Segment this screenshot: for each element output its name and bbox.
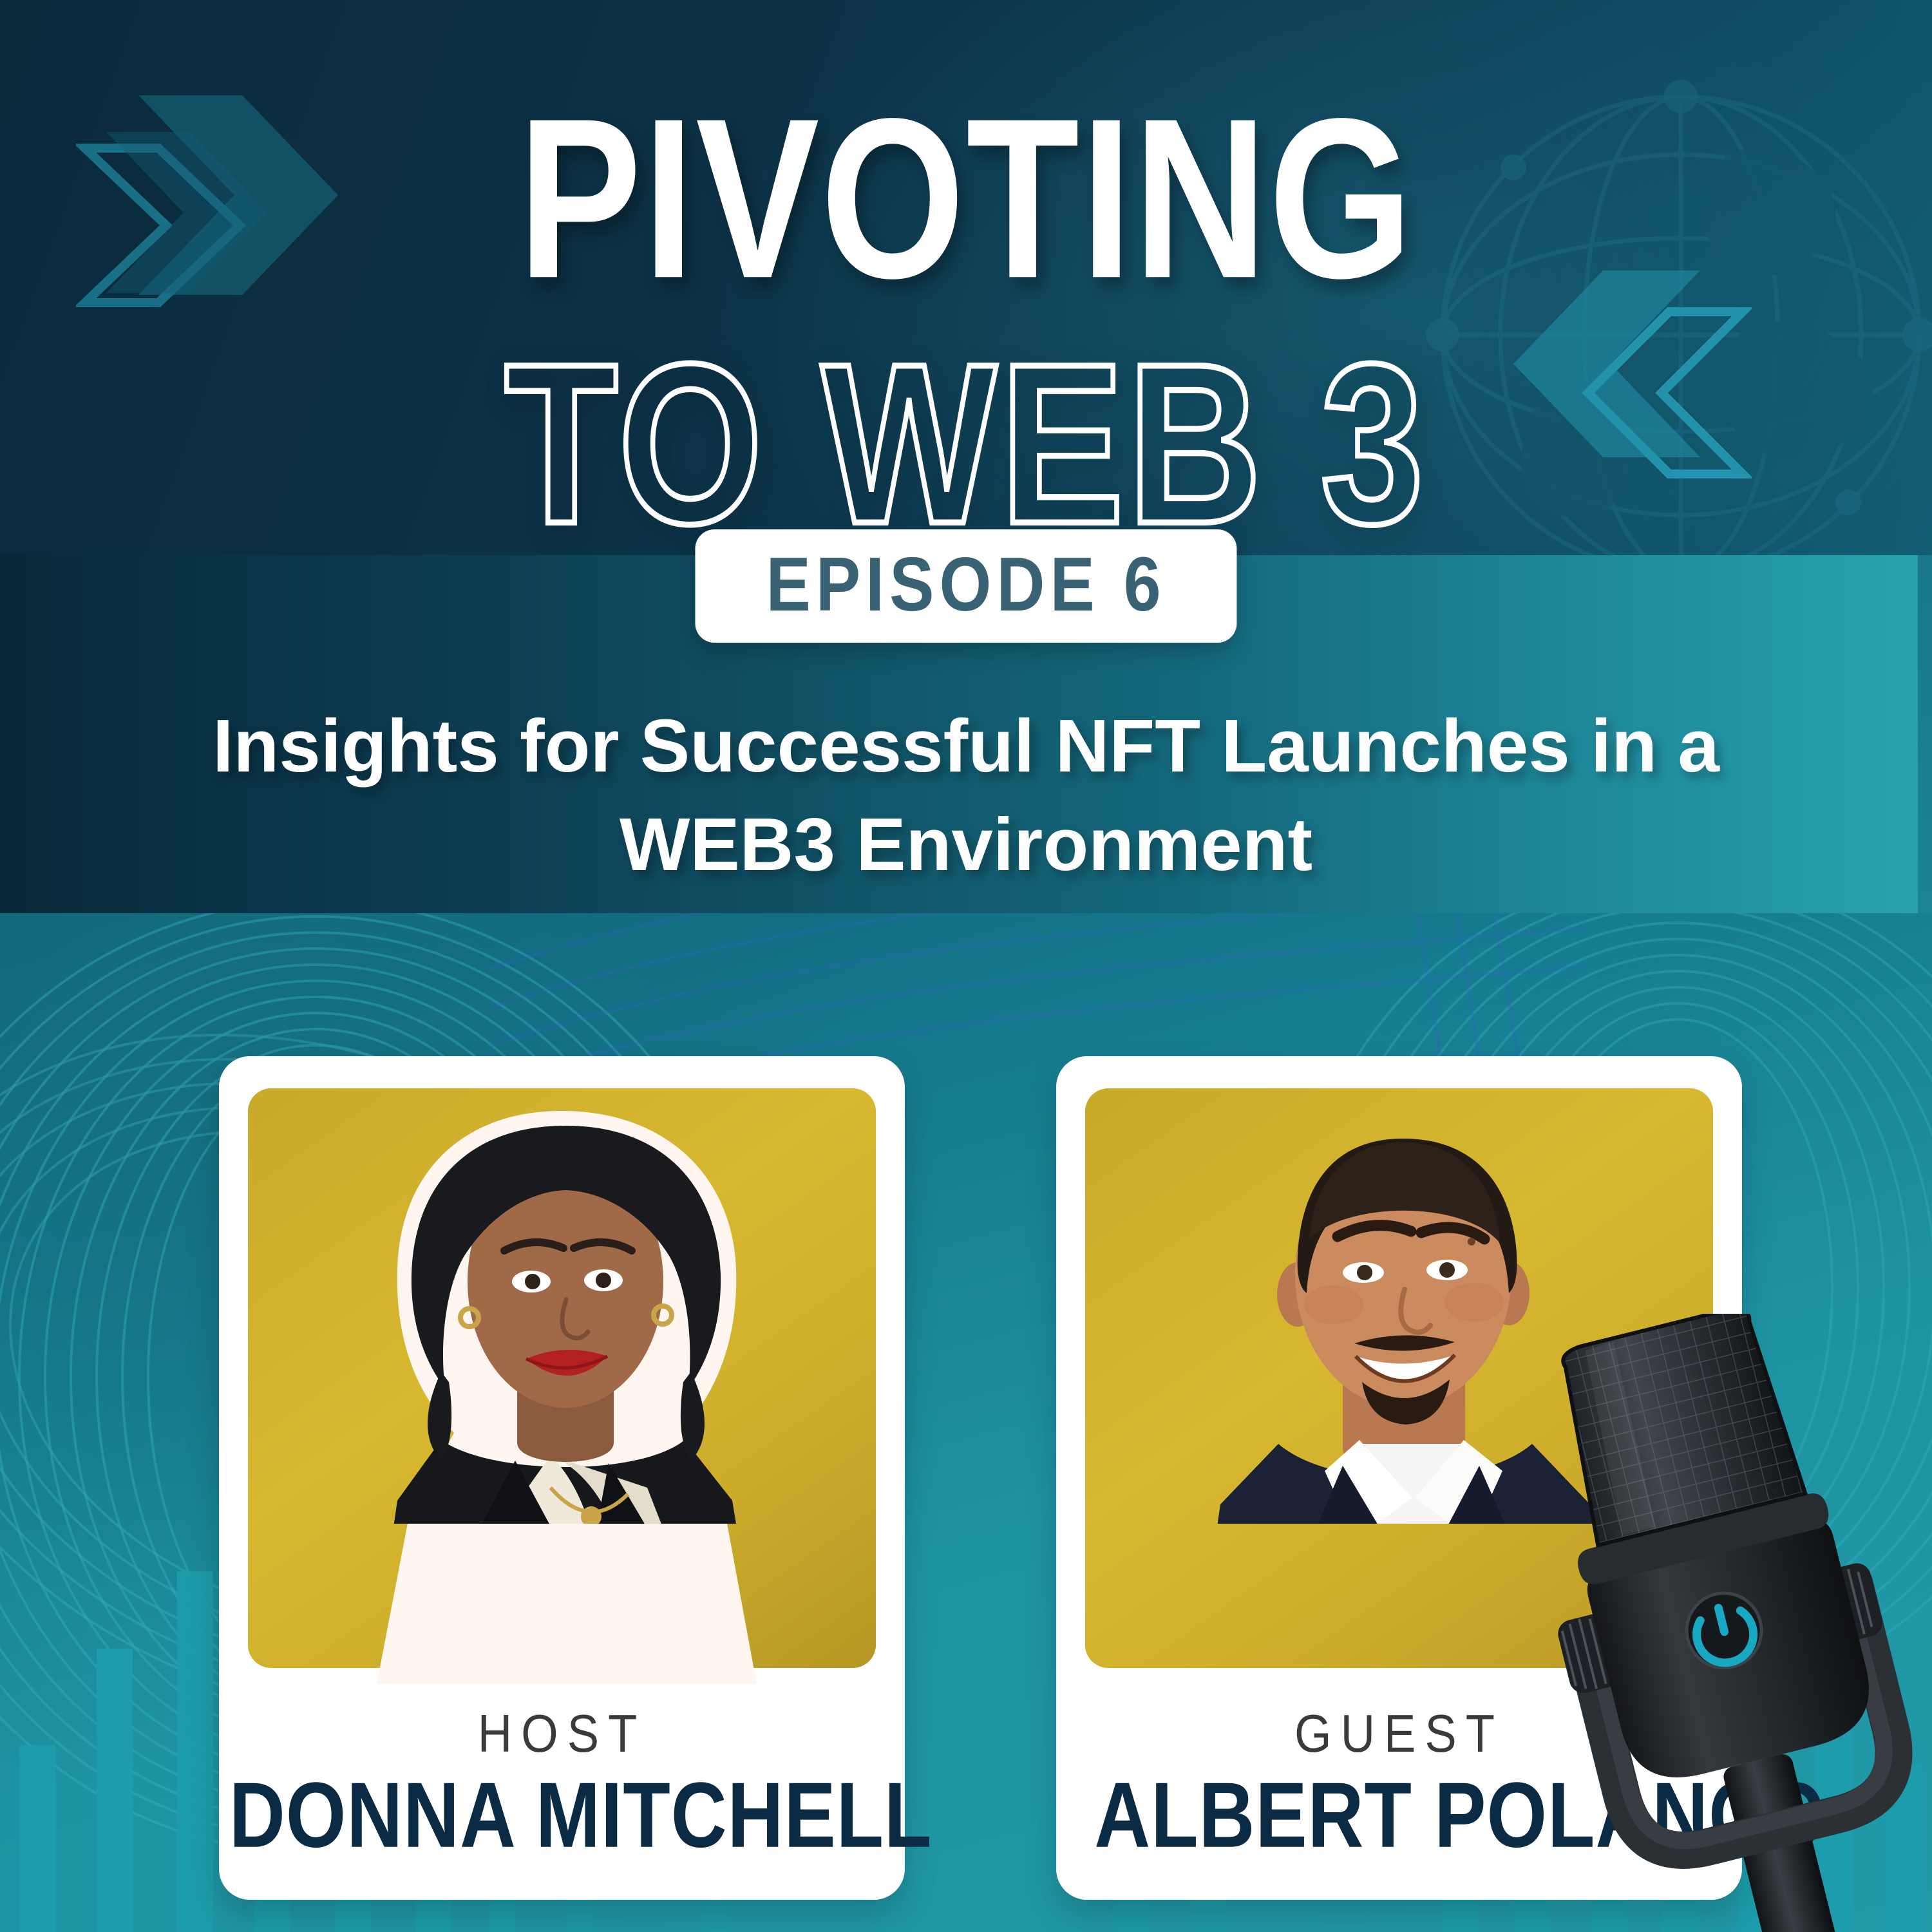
- episode-badge-label: EPISODE 6: [766, 547, 1166, 623]
- podcast-microphone-icon: [1468, 1314, 1932, 1932]
- host-photo-background: [248, 1088, 876, 1668]
- podcast-cover: PIVOTING TO WEB 3 EPISODE 6 Insights for…: [0, 0, 1932, 1932]
- title-line-1: PIVOTING: [39, 90, 1893, 307]
- subtitle-line-2: WEB3 Environment: [155, 795, 1777, 894]
- episode-badge[interactable]: EPISODE 6: [695, 529, 1236, 643]
- show-title: PIVOTING TO WEB 3: [0, 90, 1932, 519]
- episode-subtitle: Insights for Successful NFT Launches in …: [0, 697, 1932, 894]
- title-line-2: TO WEB 3: [39, 336, 1893, 552]
- top-background: PIVOTING TO WEB 3: [0, 0, 1932, 555]
- host-nameplate: HOST DONNA MITCHELL: [219, 1706, 905, 1861]
- subtitle-line-1: Insights for Successful NFT Launches in …: [155, 697, 1777, 795]
- host-role-label: HOST: [219, 1703, 905, 1764]
- host-card[interactable]: HOST DONNA MITCHELL: [219, 1056, 905, 1900]
- host-photo: [248, 1088, 876, 1668]
- host-name: DONNA MITCHELL: [229, 1763, 895, 1869]
